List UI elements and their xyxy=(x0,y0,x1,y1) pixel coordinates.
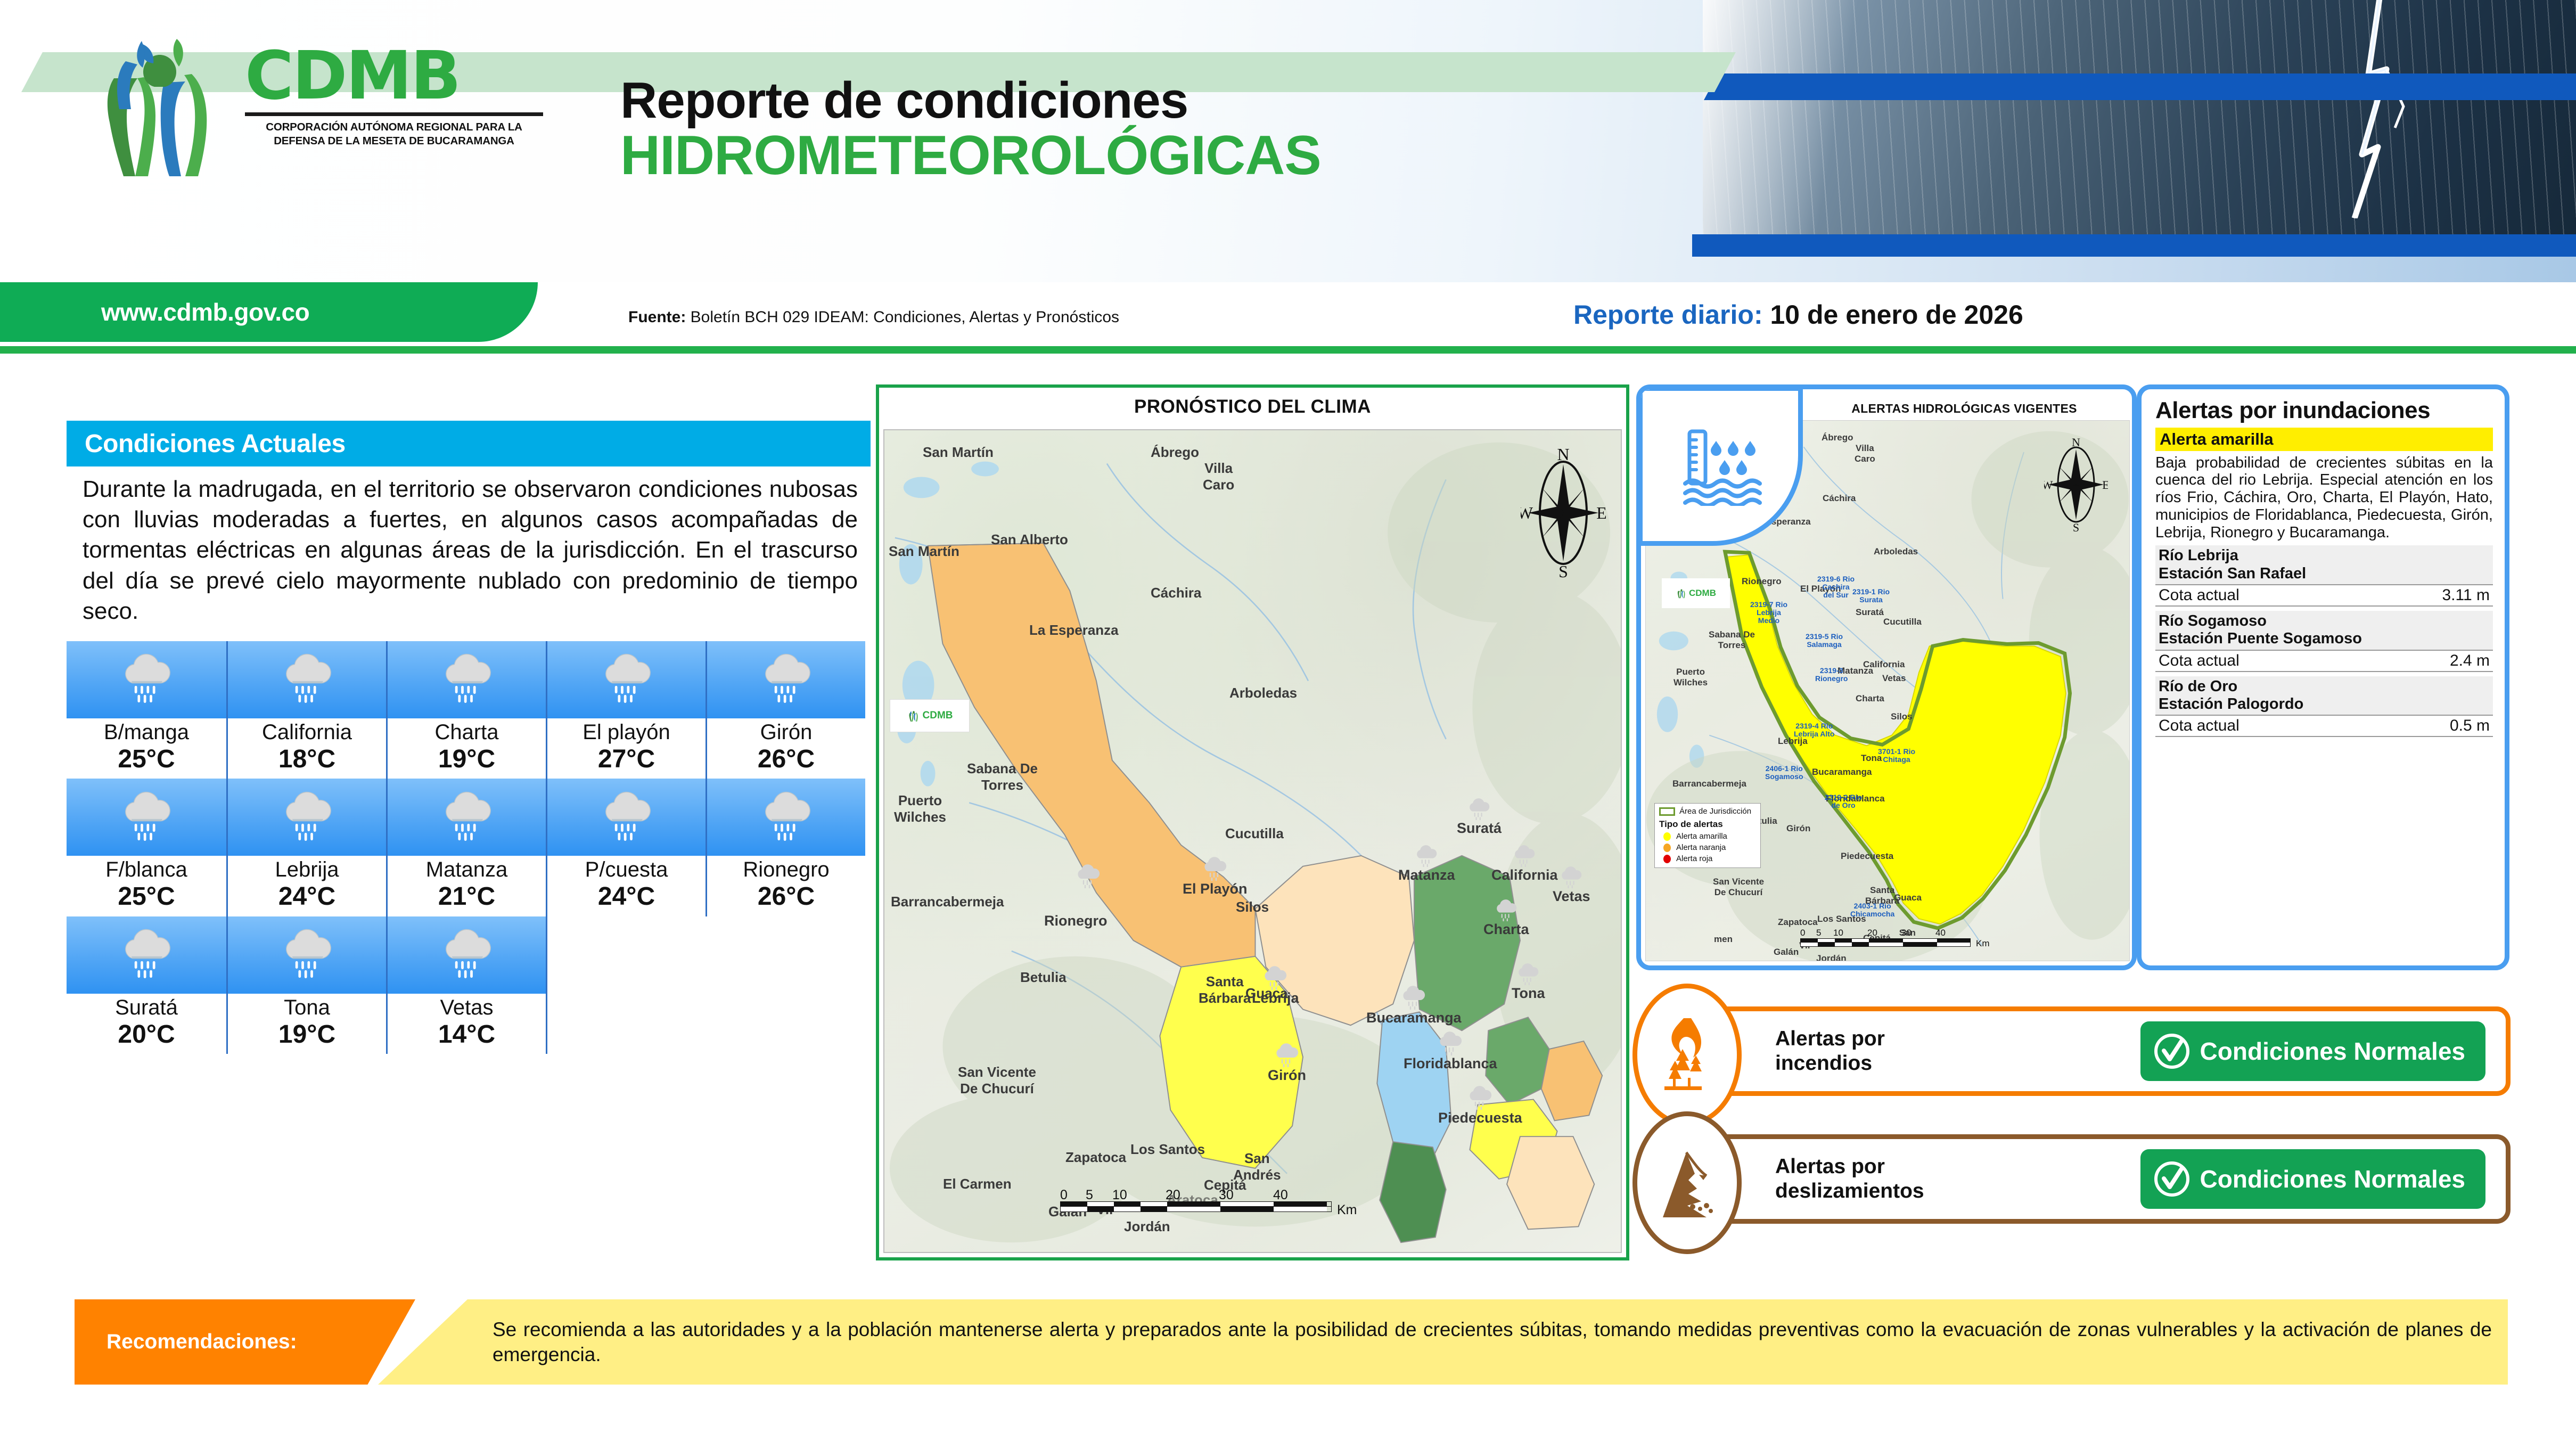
cdmb-logo-mark xyxy=(907,705,921,726)
rain-cloud-icon xyxy=(1274,1043,1300,1067)
temperature-icon-wrap xyxy=(707,779,865,856)
river-block: Río de Oro Estación Palogordo Cota actua… xyxy=(2155,676,2493,738)
fire-icon-badge xyxy=(1632,984,1742,1126)
source-bar: www.cdmb.gov.co Fuente: Boletín BCH 029 … xyxy=(0,282,2576,351)
fire-alerts-label: Alertas por incendios xyxy=(1775,1027,1885,1076)
hydro-map-legend: Área de Jurisdicción Tipo de alertas Ale… xyxy=(1654,803,1761,868)
temperature-city: Lebrija xyxy=(228,858,386,882)
title-line-1: Reporte de condiciones xyxy=(620,75,1321,127)
header-blue-bar xyxy=(1692,234,2576,257)
current-conditions-text: Durante la madrugada, en el territorio s… xyxy=(67,466,871,632)
basin-label-rionegro: 2319-3Rionegro xyxy=(1815,667,1848,683)
climate-map-title: PRONÓSTICO DEL CLIMA xyxy=(879,388,1626,426)
temperature-label-wrap: Vetas14°C xyxy=(388,994,546,1054)
climate-map[interactable]: San Martín San Martín San Alberto Ábrego… xyxy=(883,429,1622,1253)
legend-alerta-amarilla: Alerta amarilla xyxy=(1676,832,1727,841)
header-blue-stripe xyxy=(1704,73,2576,100)
svg-text:N: N xyxy=(2072,437,2080,449)
recommendations-tab: Recomendaciones: xyxy=(75,1299,415,1385)
rain-cloud-icon xyxy=(1467,798,1491,820)
temperature-value: 24°C xyxy=(228,882,386,912)
check-circle-icon xyxy=(2152,1159,2192,1199)
temperature-city: Charta xyxy=(388,721,546,744)
muni-label-tona: Tona xyxy=(1512,985,1545,1002)
temperature-cell: Vetas14°C xyxy=(386,916,546,1054)
muni-label-rionegro: Rionegro xyxy=(1044,913,1107,929)
river-level-row: Cota actual 0.5 m xyxy=(2155,715,2493,737)
svg-text:S: S xyxy=(1558,562,1568,579)
rain-cloud-icon xyxy=(1437,1031,1464,1055)
temperature-value xyxy=(547,1020,705,1050)
basin-label-chicamocha: 2403-1 RioChicamocha xyxy=(1850,902,1894,918)
header-bottom-rule xyxy=(0,346,2576,354)
rain-cloud-icon xyxy=(439,790,495,845)
alert-orange-swatch-icon xyxy=(1663,844,1671,852)
river-block: Río Lebrija Estación San Rafael Cota act… xyxy=(2155,545,2493,607)
temperature-row: B/manga25°C California18°C Charta19°C El… xyxy=(67,641,865,779)
muni-label-giron: Girón xyxy=(1268,1067,1306,1084)
logo-subtitle-line2: DEFENSA DE LA MESETA DE BUCARAMANGA xyxy=(245,134,543,148)
fire-alerts-box: Alertas por incendios Condiciones Normal… xyxy=(1664,1006,2511,1096)
temperature-label-wrap: California18°C xyxy=(228,718,386,779)
temperature-cell-empty xyxy=(546,916,705,1054)
temperature-cell: Tona19°C xyxy=(226,916,386,1054)
river-header: Río Lebrija Estación San Rafael xyxy=(2155,545,2493,584)
muni-surata: Suratá xyxy=(1457,798,1502,837)
landslide-label-line1: Alertas por xyxy=(1775,1155,1885,1178)
temperature-label-wrap xyxy=(705,994,865,1054)
page-title: Reporte de condiciones HIDROMETEOROLÓGIC… xyxy=(620,75,1321,184)
fire-status-text: Condiciones Normales xyxy=(2200,1037,2465,1066)
river-station: Estación Palogordo xyxy=(2159,695,2303,713)
river-station: Estación San Rafael xyxy=(2159,565,2306,582)
river-name: Río Lebrija xyxy=(2159,547,2238,564)
temperature-cell: Matanza21°C xyxy=(386,779,546,916)
legend-types-title: Tipo de alertas xyxy=(1659,819,1756,830)
muni-label-el-playon: El Playón xyxy=(1183,881,1248,897)
temperature-label-wrap: Lebrija24°C xyxy=(228,856,386,916)
compass-rose-icon: N S W E xyxy=(1521,446,1606,579)
muni-giron: Girón xyxy=(1268,1043,1306,1084)
temperature-icon-wrap xyxy=(707,641,865,718)
report-date-value: 10 de enero de 2026 xyxy=(1770,300,2023,330)
rain-cloud-icon xyxy=(439,927,495,983)
temperature-label-wrap: Suratá20°C xyxy=(67,994,226,1054)
temperature-icon-wrap xyxy=(547,916,705,994)
temperature-value: 25°C xyxy=(67,744,226,775)
river-name: Río Sogamoso xyxy=(2159,612,2267,629)
source-label: Fuente: xyxy=(628,308,686,326)
river-header: Río de Oro Estación Palogordo xyxy=(2155,676,2493,715)
temperature-label-wrap: P/cuesta24°C xyxy=(547,856,705,916)
fire-label-line1: Alertas por xyxy=(1775,1027,1885,1050)
fire-label-line2: incendios xyxy=(1775,1052,1872,1075)
river-block: Río Sogamoso Estación Puente Sogamoso Co… xyxy=(2155,611,2493,672)
temperature-label-wrap: Girón26°C xyxy=(707,718,865,779)
rain-cloud-icon xyxy=(280,790,335,845)
rain-cloud-icon xyxy=(119,652,174,707)
source-text: Fuente: Boletín BCH 029 IDEAM: Condicion… xyxy=(628,308,1119,326)
rain-cloud-icon xyxy=(1414,845,1439,867)
temperature-cell: Rionegro26°C xyxy=(705,779,865,916)
hydro-cdmb-logo: CDMB xyxy=(1662,578,1730,608)
rain-cloud-icon xyxy=(119,927,174,983)
temperature-row: F/blanca25°C Lebrija24°C Matanza21°C P/c… xyxy=(67,779,865,916)
basin-label-cachira-del-sur: 2319-6 RioCachiradel Sur xyxy=(1817,575,1855,599)
rain-cloud-icon xyxy=(439,652,495,707)
muni-label-piedecuesta: Piedecuesta xyxy=(1438,1110,1522,1126)
svg-text:W: W xyxy=(2044,478,2053,492)
temperature-cell: El playón27°C xyxy=(546,641,705,779)
temperature-city: Matanza xyxy=(388,858,546,882)
muni-california: California xyxy=(1491,845,1558,883)
basin-label-lebrija-medio: 2319-7 RioLebrijaMedio xyxy=(1750,601,1787,625)
cota-value: 0.5 m xyxy=(2450,717,2490,735)
temperature-city: Girón xyxy=(707,721,865,744)
recommendations-bar: Se recomienda a las autoridades y a la p… xyxy=(75,1299,2508,1385)
temperature-value: 18°C xyxy=(228,744,386,775)
muni-vetas: Vetas xyxy=(1553,866,1590,905)
flood-alerts-description: Baja probabilidad de crecientes súbitas … xyxy=(2155,454,2493,542)
muni-piedecuesta: Piedecuesta xyxy=(1438,1085,1522,1126)
legend-alerta-naranja: Alerta naranja xyxy=(1676,843,1726,852)
landslide-alerts-label: Alertas por deslizamientos xyxy=(1775,1155,1924,1204)
recommendations-label: Recomendaciones: xyxy=(106,1330,297,1354)
temperature-cell: P/cuesta24°C xyxy=(546,779,705,916)
muni-charta: Charta xyxy=(1483,899,1529,938)
river-header: Río Sogamoso Estación Puente Sogamoso xyxy=(2155,611,2493,650)
source-value: Boletín BCH 029 IDEAM: Condiciones, Aler… xyxy=(691,308,1119,326)
cota-label: Cota actual xyxy=(2159,717,2239,735)
cota-value: 2.4 m xyxy=(2450,652,2490,670)
temperature-value: 21°C xyxy=(388,882,546,912)
climate-map-scale-bar: 05 1020 3040 Km xyxy=(1060,1188,1332,1212)
svg-text:E: E xyxy=(2102,478,2108,492)
hydro-cdmb-acronym: CDMB xyxy=(1689,588,1716,599)
legend-alerta-roja: Alerta roja xyxy=(1676,854,1712,863)
alert-yellow-swatch-icon xyxy=(1663,832,1671,841)
temperature-value: 19°C xyxy=(388,744,546,775)
rain-cloud-icon xyxy=(1516,963,1540,985)
landslide-icon xyxy=(1655,1143,1719,1223)
river-name: Río de Oro xyxy=(2159,678,2237,695)
landslide-label-line2: deslizamientos xyxy=(1775,1180,1924,1202)
flood-alerts-title: Alertas por inundaciones xyxy=(2155,398,2493,423)
temperature-value: 25°C xyxy=(67,882,226,912)
temperature-city: Rionegro xyxy=(707,858,865,882)
rain-cloud-icon xyxy=(759,790,814,845)
current-conditions-panel: Condiciones Actuales Durante la madrugad… xyxy=(67,421,871,1054)
hydro-scale-unit: Km xyxy=(1976,938,1990,949)
rain-cloud-icon xyxy=(599,790,654,845)
temperature-value: 27°C xyxy=(547,744,705,775)
temperature-city: B/manga xyxy=(67,721,226,744)
temperature-label-wrap: F/blanca25°C xyxy=(67,856,226,916)
cota-value: 3.11 m xyxy=(2442,586,2490,604)
compass-rose-icon: N S W E xyxy=(2044,437,2108,533)
temperature-city: El playón xyxy=(547,721,705,744)
rain-cloud-icon xyxy=(759,652,814,707)
title-line-2: HIDROMETEOROLÓGICAS xyxy=(620,127,1321,184)
temperature-icon-wrap xyxy=(228,641,386,718)
check-circle-icon xyxy=(2152,1032,2192,1071)
river-level-row: Cota actual 2.4 m xyxy=(2155,650,2493,672)
cdmb-logo-mark xyxy=(1676,584,1687,602)
flood-alerts-panel: Alertas por inundaciones Alerta amarilla… xyxy=(2137,384,2509,970)
hydro-map-scale-bar: 05 1020 3040 Km xyxy=(1800,928,1971,947)
temperature-icon-wrap xyxy=(228,779,386,856)
current-conditions-header: Condiciones Actuales xyxy=(67,421,871,466)
landslide-status-text: Condiciones Normales xyxy=(2200,1165,2465,1193)
report-date-block: Reporte diario: 10 de enero de 2026 xyxy=(1573,299,2023,330)
cota-label: Cota actual xyxy=(2159,586,2239,604)
muni-rionegro: Rionegro xyxy=(1044,888,1107,929)
fire-forest-icon xyxy=(1658,1015,1717,1095)
temperature-value xyxy=(705,1020,865,1050)
muni-matanza: Matanza xyxy=(1398,845,1455,883)
hydro-alerts-panel: ALERTAS HIDROLÓGICAS VIGENTES xyxy=(1636,384,2137,970)
jurisdiction-swatch-icon xyxy=(1659,807,1675,816)
basin-label-sogamoso: 2406-1 RioSogamoso xyxy=(1765,765,1803,781)
temperature-city xyxy=(547,996,705,1020)
basin-label-surata: 2319-1 RioSurata xyxy=(1852,588,1890,604)
rain-cloud-icon xyxy=(1467,1085,1494,1110)
temperature-icon-wrap xyxy=(388,779,546,856)
water-level-gauge-icon xyxy=(1678,426,1763,506)
temperature-value: 24°C xyxy=(547,882,705,912)
muni-floridablanca: Floridablanca xyxy=(1404,1031,1497,1072)
svg-text:S: S xyxy=(2073,521,2079,533)
rain-cloud-icon xyxy=(119,790,174,845)
landslide-alerts-box: Alertas por deslizamientos Condiciones N… xyxy=(1664,1134,2511,1224)
rain-cloud-icon xyxy=(1262,965,1289,990)
temperature-cell: Lebrija24°C xyxy=(226,779,386,916)
svg-text:E: E xyxy=(1596,503,1606,522)
basin-label-lebrija-alto: 2319-4 RioLebrija Alto xyxy=(1794,722,1835,738)
temperature-label-wrap: Charta19°C xyxy=(388,718,546,779)
temperature-label-wrap: B/manga25°C xyxy=(67,718,226,779)
storm-photo xyxy=(1703,0,2576,234)
temperature-icon-wrap xyxy=(67,641,226,718)
muni-label-matanza: Matanza xyxy=(1398,867,1455,883)
temperature-icon-wrap xyxy=(547,641,705,718)
current-conditions-title: Condiciones Actuales xyxy=(85,429,346,459)
temperature-icon-wrap xyxy=(388,916,546,994)
temperature-cell: F/blanca25°C xyxy=(67,779,226,916)
temperature-city: P/cuesta xyxy=(547,858,705,882)
temperature-value: 19°C xyxy=(228,1020,386,1050)
svg-text:N: N xyxy=(1557,446,1569,464)
temperature-icon-wrap xyxy=(228,916,386,994)
flood-alert-level-badge: Alerta amarilla xyxy=(2155,428,2493,451)
rain-cloud-icon xyxy=(1494,899,1519,921)
temperature-city: F/blanca xyxy=(67,858,226,882)
muni-label-lebrija: Lebrija xyxy=(1252,990,1299,1006)
hydro-map-title: ALERTAS HIDROLÓGICAS VIGENTES xyxy=(1801,395,2128,422)
recommendations-text: Se recomienda a las autoridades y a la p… xyxy=(493,1317,2492,1368)
fire-status-badge[interactable]: Condiciones Normales xyxy=(2140,1021,2485,1081)
climate-map-lower-regions xyxy=(884,430,1621,1252)
recommendations-body: Se recomienda a las autoridades y a la p… xyxy=(378,1299,2508,1385)
cdmb-logo: CDMB CORPORACIÓN AUTÓNOMA REGIONAL PARA … xyxy=(80,29,548,189)
temperature-value: 26°C xyxy=(707,882,865,912)
temperature-icon-wrap xyxy=(67,916,226,994)
logo-subtitle-line1: CORPORACIÓN AUTÓNOMA REGIONAL PARA LA xyxy=(245,120,543,134)
rain-cloud-icon xyxy=(1202,856,1228,881)
temperature-label-wrap: Tona19°C xyxy=(228,994,386,1054)
svg-text:W: W xyxy=(1521,503,1533,522)
rain-cloud-icon xyxy=(599,652,654,707)
temperature-value: 26°C xyxy=(707,744,865,775)
cota-label: Cota actual xyxy=(2159,652,2239,670)
temperature-city: California xyxy=(228,721,386,744)
muni-bucaramanga: Bucaramanga xyxy=(1366,985,1462,1026)
basin-label-chitaga: 3701-1 RioChitaga xyxy=(1878,748,1915,764)
logo-acronym: CDMB xyxy=(245,43,543,109)
temperature-icon-wrap xyxy=(705,916,865,994)
rain-cloud-icon xyxy=(280,652,335,707)
temperature-city: Vetas xyxy=(388,996,546,1020)
rain-cloud-icon xyxy=(1512,845,1537,867)
muni-el-playon: El Playón xyxy=(1183,856,1248,897)
temperature-row: Suratá20°C Tona19°C Vetas14°C xyxy=(67,916,865,1054)
muni-label-california: California xyxy=(1491,867,1558,883)
muni-label-surata: Suratá xyxy=(1457,820,1502,837)
map-cdmb-logo: CDMB xyxy=(890,699,970,732)
rain-cloud-icon xyxy=(1400,985,1427,1010)
map-cdmb-acronym: CDMB xyxy=(923,710,953,722)
legend-jurisdiction-label: Área de Jurisdicción xyxy=(1679,807,1751,816)
temperature-value: 20°C xyxy=(67,1020,226,1050)
muni-label-bucaramanga: Bucaramanga xyxy=(1366,1010,1462,1026)
cdmb-logo-mark xyxy=(80,29,240,189)
landslide-icon-badge xyxy=(1632,1111,1742,1254)
temperature-grid: B/manga25°C California18°C Charta19°C El… xyxy=(67,641,871,1054)
temperature-label-wrap: Matanza21°C xyxy=(388,856,546,916)
muni-label-vetas: Vetas xyxy=(1553,888,1590,905)
rain-cloud-icon xyxy=(280,927,335,983)
temperature-city: Tona xyxy=(228,996,386,1020)
temperature-cell: Suratá20°C xyxy=(67,916,226,1054)
muni-tona: Tona xyxy=(1512,963,1545,1002)
temperature-cell: Charta19°C xyxy=(386,641,546,779)
muni-lebrija: Lebrija xyxy=(1252,965,1299,1006)
temperature-cell-empty xyxy=(705,916,865,1054)
temperature-city xyxy=(705,996,865,1020)
temperature-label-wrap: El playón27°C xyxy=(547,718,705,779)
temperature-label-wrap: Rionegro26°C xyxy=(707,856,865,916)
muni-label-charta: Charta xyxy=(1483,921,1529,938)
lightning-icon xyxy=(2331,0,2416,218)
temperature-cell: Girón26°C xyxy=(705,641,865,779)
basin-label-salamaga: 2319-5 RioSalamaga xyxy=(1806,633,1843,649)
temperature-icon-wrap xyxy=(67,779,226,856)
temperature-city: Suratá xyxy=(67,996,226,1020)
temperature-cell: B/manga25°C xyxy=(67,641,226,779)
temperature-label-wrap xyxy=(547,994,705,1054)
page-header: CDMB CORPORACIÓN AUTÓNOMA REGIONAL PARA … xyxy=(0,0,2576,282)
website-url[interactable]: www.cdmb.gov.co xyxy=(101,298,309,326)
river-level-row: Cota actual 3.11 m xyxy=(2155,584,2493,607)
alert-red-swatch-icon xyxy=(1663,855,1671,863)
website-banner[interactable]: www.cdmb.gov.co xyxy=(0,282,538,342)
temperature-icon-wrap xyxy=(547,779,705,856)
temperature-icon-wrap xyxy=(388,641,546,718)
report-date-label: Reporte diario: xyxy=(1573,300,1763,330)
basin-label-rio-de-oro: 2319-2 Riode Oro xyxy=(1825,793,1862,809)
landslide-status-badge[interactable]: Condiciones Normales xyxy=(2140,1149,2485,1209)
temperature-value: 14°C xyxy=(388,1020,546,1050)
rain-cloud-icon xyxy=(1075,864,1102,888)
river-station: Estación Puente Sogamoso xyxy=(2159,630,2362,647)
climate-scale-unit: Km xyxy=(1337,1202,1357,1218)
rain-cloud-icon xyxy=(1559,866,1584,888)
climate-forecast-panel: PRONÓSTICO DEL CLIMA xyxy=(876,384,1629,1260)
muni-label-floridablanca: Floridablanca xyxy=(1404,1055,1497,1072)
temperature-cell: California18°C xyxy=(226,641,386,779)
